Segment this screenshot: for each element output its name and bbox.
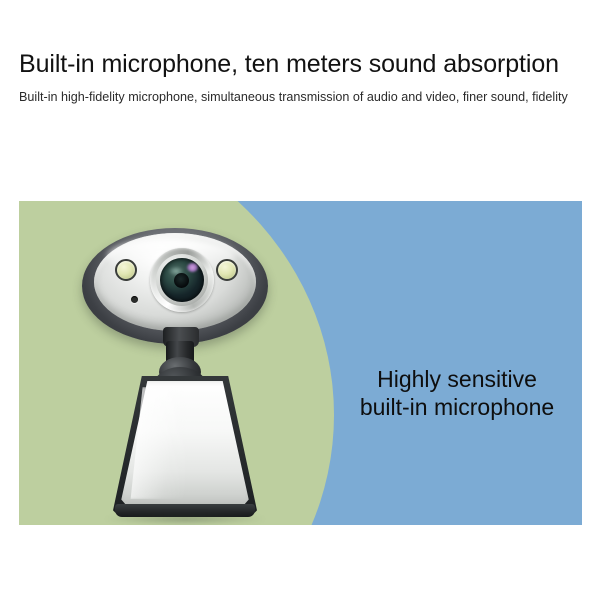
page-subtitle: Built-in high-fidelity microphone, simul… <box>19 88 585 107</box>
green-background-fill <box>19 201 79 525</box>
feature-text-block: Built-in microphone, ten meters sound ab… <box>19 48 585 107</box>
product-caption: Highly sensitive built-in microphone <box>337 365 577 421</box>
page-title: Built-in microphone, ten meters sound ab… <box>19 48 585 80</box>
product-image-panel <box>19 201 582 525</box>
